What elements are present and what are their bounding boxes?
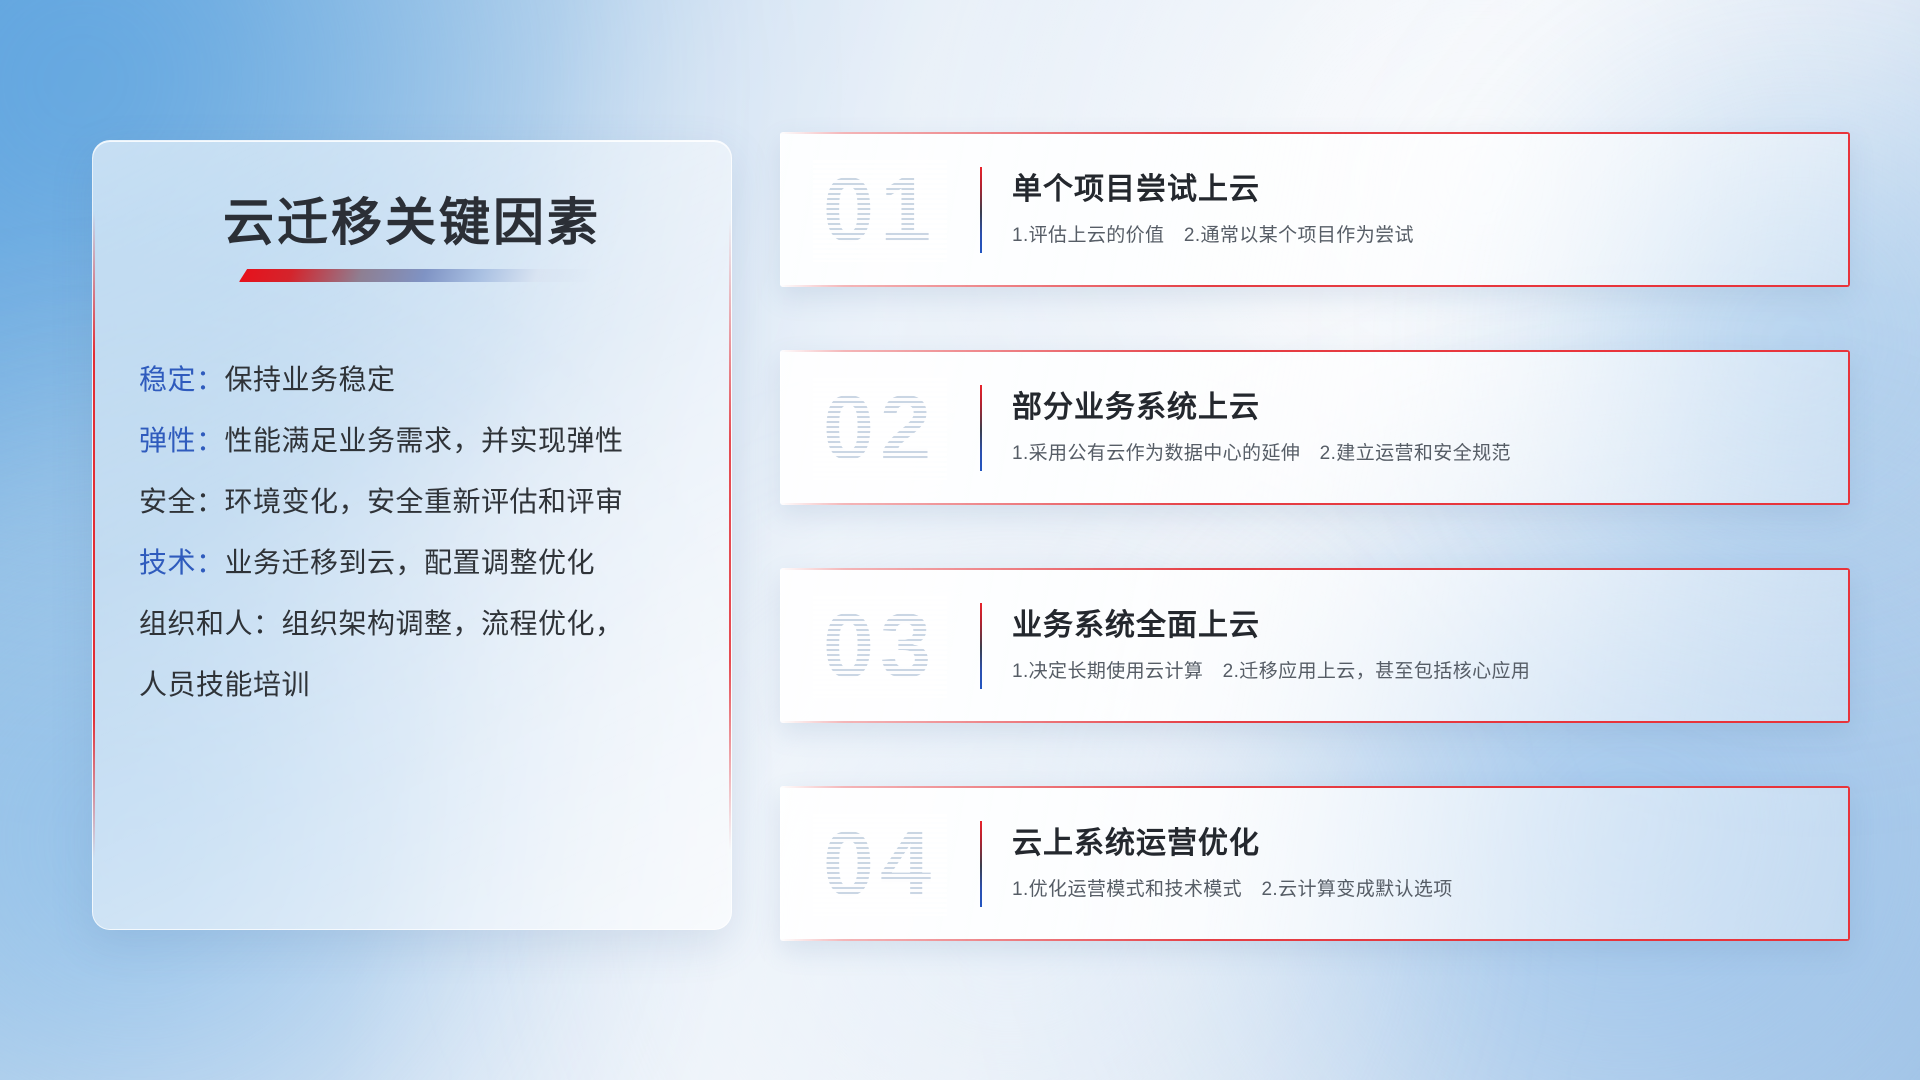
list-item: 安全：环境变化，安全重新评估和评审 [139, 471, 685, 532]
card-subtitle: 1.优化运营模式和技术模式 2.云计算变成默认选项 [1012, 874, 1824, 901]
card-number-text: 04 [823, 813, 937, 915]
list-item: 人员技能培训 [139, 654, 685, 715]
list-item-value: 业务迁移到云，配置调整优化 [225, 547, 596, 578]
page-title: 云迁移关键因素 [93, 181, 731, 255]
card-subtitle: 1.评估上云的价值 2.通常以某个项目作为尝试 [1012, 220, 1824, 247]
title-underline-rule [239, 269, 595, 282]
card-title: 业务系统全面上云 [1012, 608, 1824, 644]
card-number-watermark: 04 [780, 786, 980, 941]
list-item-key: 技术： [139, 547, 225, 578]
card-title: 单个项目尝试上云 [1012, 172, 1824, 208]
card-number-watermark: 01 [780, 132, 980, 287]
list-item-key: 安全： [139, 486, 225, 517]
list-item-value: 保持业务稳定 [225, 364, 396, 395]
list-item: 技术：业务迁移到云，配置调整优化 [139, 532, 685, 593]
card-number-watermark: 02 [780, 350, 980, 505]
key-factors-panel: 云迁移关键因素 稳定：保持业务稳定 弹性：性能满足业务需求，并实现弹性 安全：环… [92, 140, 732, 930]
card-accent-bar [980, 603, 982, 689]
card-accent-bar [980, 167, 982, 253]
card-subtitle: 1.采用公有云作为数据中心的延伸 2.建立运营和安全规范 [1012, 438, 1824, 465]
list-item-key: 弹性： [139, 425, 225, 456]
list-item: 组织和人：组织架构调整，流程优化， [139, 593, 685, 654]
list-item: 弹性：性能满足业务需求，并实现弹性 [139, 410, 685, 471]
list-item-value: 人员技能培训 [139, 669, 310, 700]
card-title: 云上系统运营优化 [1012, 826, 1824, 862]
list-item-value: 组织架构调整，流程优化， [282, 608, 624, 639]
stage-card-04[interactable]: 04 云上系统运营优化 1.优化运营模式和技术模式 2.云计算变成默认选项 [780, 786, 1850, 941]
card-number-text: 02 [823, 377, 937, 479]
card-accent-bar [980, 821, 982, 907]
list-item-key: 稳定： [139, 364, 225, 395]
key-factors-list: 稳定：保持业务稳定 弹性：性能满足业务需求，并实现弹性 安全：环境变化，安全重新… [93, 349, 731, 715]
card-number-text: 03 [823, 595, 937, 697]
stage-card-02[interactable]: 02 部分业务系统上云 1.采用公有云作为数据中心的延伸 2.建立运营和安全规范 [780, 350, 1850, 505]
list-item-value: 性能满足业务需求，并实现弹性 [225, 425, 624, 456]
list-item-value: 环境变化，安全重新评估和评审 [225, 486, 624, 517]
card-title: 部分业务系统上云 [1012, 390, 1824, 426]
stage-card-01[interactable]: 01 单个项目尝试上云 1.评估上云的价值 2.通常以某个项目作为尝试 [780, 132, 1850, 287]
stage-cards: 01 单个项目尝试上云 1.评估上云的价值 2.通常以某个项目作为尝试 02 [780, 132, 1850, 1004]
card-subtitle: 1.决定长期使用云计算 2.迁移应用上云，甚至包括核心应用 [1012, 656, 1824, 683]
card-number-text: 01 [823, 159, 937, 261]
list-item-key: 组织和人： [139, 608, 282, 639]
list-item: 稳定：保持业务稳定 [139, 349, 685, 410]
stage-card-03[interactable]: 03 业务系统全面上云 1.决定长期使用云计算 2.迁移应用上云，甚至包括核心应… [780, 568, 1850, 723]
card-accent-bar [980, 385, 982, 471]
card-number-watermark: 03 [780, 568, 980, 723]
